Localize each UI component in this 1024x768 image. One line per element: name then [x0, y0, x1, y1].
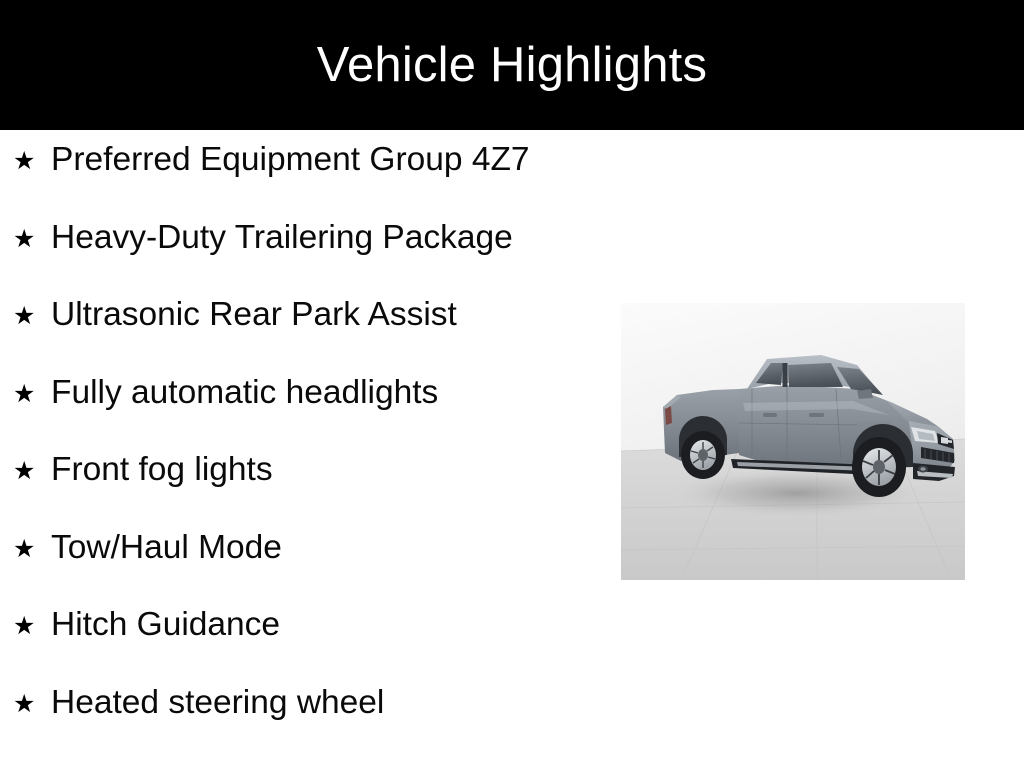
list-item-label: Ultrasonic Rear Park Assist	[51, 298, 457, 332]
list-item: ★ Fully automatic headlights	[0, 376, 610, 454]
star-icon: ★	[13, 226, 51, 251]
star-icon: ★	[13, 303, 51, 328]
rear-wheel	[681, 431, 725, 479]
list-item: ★ Ultrasonic Rear Park Assist	[0, 298, 610, 376]
list-item: ★ Tow/Haul Mode	[0, 531, 610, 609]
page-title: Vehicle Highlights	[317, 41, 707, 90]
list-item-label: Tow/Haul Mode	[51, 531, 282, 565]
vehicle-photo	[621, 303, 965, 580]
list-item: ★ Preferred Equipment Group 4Z7	[0, 143, 610, 221]
vehicle-highlights-list: ★ Preferred Equipment Group 4Z7 ★ Heavy-…	[0, 130, 610, 763]
front-wheel	[852, 437, 906, 497]
list-item-label: Fully automatic headlights	[51, 376, 438, 410]
list-item: ★ Front fog lights	[0, 453, 610, 531]
front-door-handle	[809, 413, 824, 417]
list-item-label: Preferred Equipment Group 4Z7	[51, 143, 530, 177]
star-icon: ★	[13, 458, 51, 483]
fog-light-lens	[920, 467, 925, 471]
header-band: Vehicle Highlights	[0, 0, 1024, 130]
list-item-label: Hitch Guidance	[51, 608, 280, 642]
list-item: ★ Heavy-Duty Trailering Package	[0, 221, 610, 299]
star-icon: ★	[13, 613, 51, 638]
star-icon: ★	[13, 536, 51, 561]
star-icon: ★	[13, 381, 51, 406]
rear-door-handle	[763, 413, 777, 417]
list-item-label: Heavy-Duty Trailering Package	[51, 221, 513, 255]
list-item-label: Front fog lights	[51, 453, 273, 487]
list-item: ★ Hitch Guidance	[0, 608, 610, 686]
list-item: ★ Heated steering wheel	[0, 686, 610, 764]
taillight	[665, 406, 672, 425]
list-item-label: Heated steering wheel	[51, 686, 384, 720]
star-icon: ★	[13, 691, 51, 716]
star-icon: ★	[13, 148, 51, 173]
b-pillar	[783, 363, 788, 387]
vehicle-photo-illustration	[621, 303, 965, 580]
